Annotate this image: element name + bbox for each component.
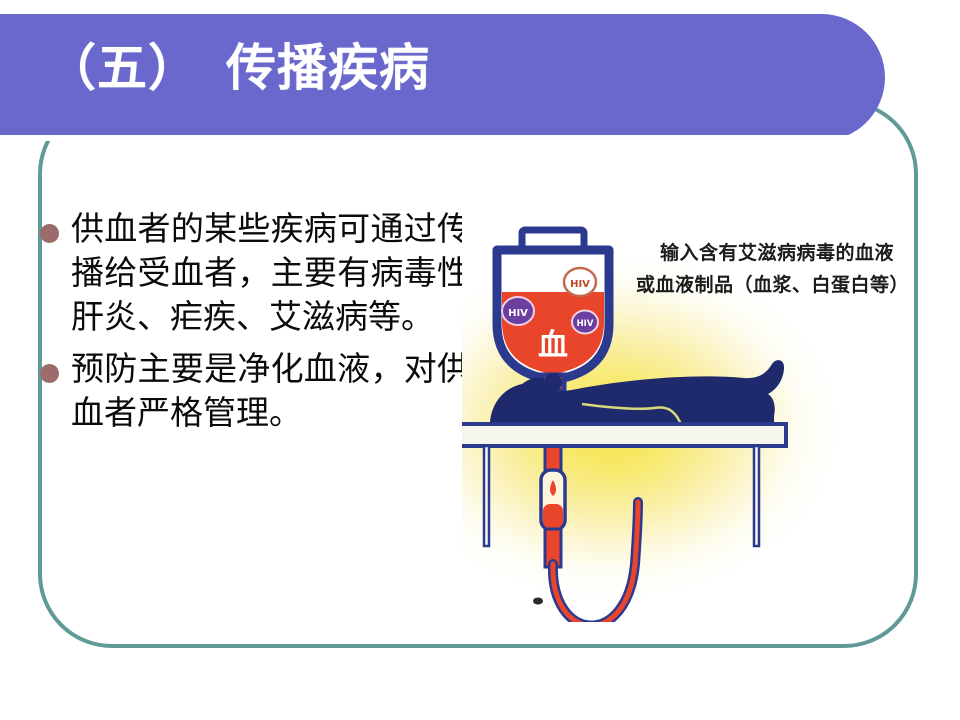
- illustration-speck: [533, 598, 543, 605]
- round-bullet-icon: [40, 364, 59, 383]
- examination-table: [462, 424, 786, 546]
- round-bullet-icon: [40, 224, 59, 243]
- caption-line-1: 输入含有艾滋病病毒的血液: [660, 237, 950, 269]
- svg-text:HIV: HIV: [577, 319, 594, 329]
- bullet-text-2: 预防主要是净化血液，对供血者严格管理。: [71, 348, 470, 436]
- svg-text:HIV: HIV: [570, 279, 590, 290]
- svg-text:HIV: HIV: [508, 308, 528, 319]
- bullet-list: 供血者的某些疾病可通过传播给受血者，主要有病毒性肝炎、疟疾、艾滋病等。 预防主要…: [40, 208, 470, 444]
- list-item: 预防主要是净化血液，对供血者严格管理。: [40, 348, 470, 436]
- blood-bag-icon: 血 HIV HIV HIV: [497, 230, 609, 393]
- bullet-text-1: 供血者的某些疾病可通过传播给受血者，主要有病毒性肝炎、疟疾、艾滋病等。: [71, 208, 470, 340]
- title-underline-rule: [0, 135, 870, 141]
- illustration-caption: 输入含有艾滋病病毒的血液 或血液制品（血浆、白蛋白等）: [660, 237, 950, 301]
- svg-text:血: 血: [538, 328, 568, 363]
- slide-canvas: （五） 传播疾病 供血者的某些疾病可通过传播给受血者，主要有病毒性肝炎、疟疾、艾…: [0, 0, 960, 720]
- list-item: 供血者的某些疾病可通过传播给受血者，主要有病毒性肝炎、疟疾、艾滋病等。: [40, 208, 470, 340]
- caption-line-2: 或血液制品（血浆、白蛋白等）: [636, 269, 950, 301]
- page-title: （五） 传播疾病: [46, 30, 866, 106]
